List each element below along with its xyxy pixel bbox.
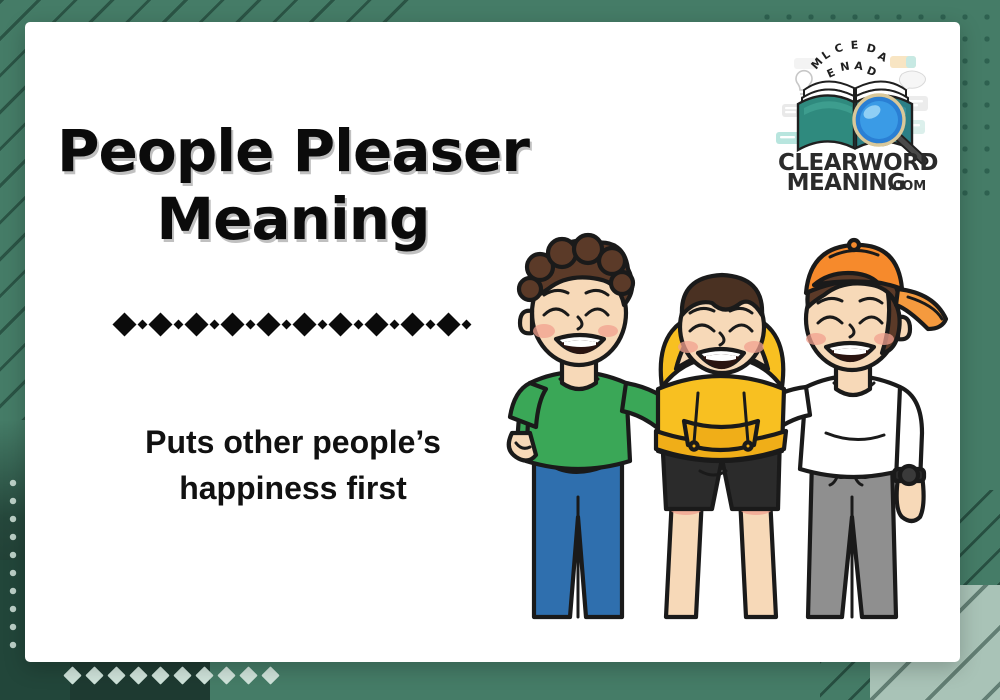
- clearword-meaning-logo[interactable]: M L C E D A E N A D: [774, 32, 942, 194]
- page-title: People Pleaser Meaning: [43, 118, 543, 254]
- divider-diamond-large: [292, 312, 316, 336]
- svg-text:D: D: [865, 64, 878, 79]
- divider-diamond-small: [174, 319, 184, 329]
- svg-text:N: N: [839, 60, 850, 74]
- divider-diamond-large: [184, 312, 208, 336]
- bottom-diamond: [173, 666, 191, 684]
- title-line-1: People Pleaser: [43, 118, 543, 186]
- bottom-diamond-row: [66, 669, 277, 682]
- subtitle-line-1: Puts other people’s: [43, 419, 543, 465]
- svg-text:E: E: [850, 39, 858, 52]
- divider-diamond-large: [364, 312, 388, 336]
- svg-text:C: C: [833, 41, 845, 56]
- divider-diamond-small: [426, 319, 436, 329]
- divider-diamond-small: [210, 319, 220, 329]
- divider-diamond-small: [462, 319, 472, 329]
- poster-background: M L C E D A E N A D: [0, 0, 1000, 700]
- three-friends-illustration: .ol { stroke:#1a1a1a; stroke-width:4.2; …: [490, 197, 960, 637]
- divider-diamond-large: [328, 312, 352, 336]
- divider-diamond-small: [390, 319, 400, 329]
- bottom-diamond: [129, 666, 147, 684]
- divider-diamond-large: [436, 312, 460, 336]
- bottom-diamond: [151, 666, 169, 684]
- divider-diamond-large: [400, 312, 424, 336]
- divider-diamond-small: [246, 319, 256, 329]
- bottom-diamond: [239, 666, 257, 684]
- logo-brand-tld: .COM: [888, 179, 926, 194]
- divider-diamond-small: [354, 319, 364, 329]
- svg-text:A: A: [876, 49, 890, 65]
- bottom-diamond: [261, 666, 279, 684]
- person-center: [656, 275, 786, 617]
- subtitle: Puts other people’s happiness first: [43, 419, 543, 512]
- bottom-diamond: [217, 666, 235, 684]
- bottom-diamond: [85, 666, 103, 684]
- subtitle-line-2: happiness first: [43, 465, 543, 511]
- divider-diamond-small: [318, 319, 328, 329]
- svg-text:E: E: [825, 66, 837, 81]
- title-line-2: Meaning: [43, 186, 543, 254]
- bottom-diamond: [107, 666, 125, 684]
- divider-diamond-large: [148, 312, 172, 336]
- svg-text:A: A: [854, 59, 865, 73]
- diamond-divider: [43, 316, 543, 333]
- content-card: M L C E D A E N A D: [25, 22, 960, 662]
- divider-diamond-large: [256, 312, 280, 336]
- text-column: People Pleaser Meaning Puts other people…: [43, 118, 543, 512]
- divider-diamond-small: [282, 319, 292, 329]
- divider-diamond-large: [220, 312, 244, 336]
- divider-diamond-small: [138, 319, 148, 329]
- svg-text:D: D: [865, 41, 877, 56]
- bottom-diamond: [195, 666, 213, 684]
- bottom-diamond: [63, 666, 81, 684]
- divider-diamond-large: [112, 312, 136, 336]
